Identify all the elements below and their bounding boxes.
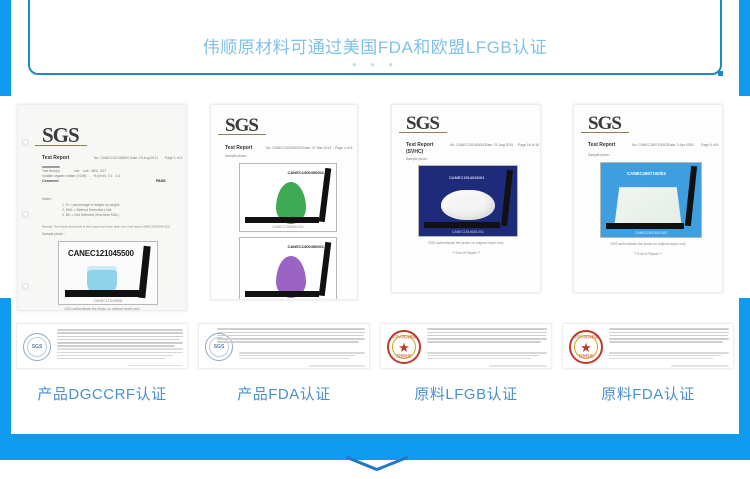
certificate-label: 产品DGCCRF认证 [37, 383, 166, 404]
certificate-label: 原料LFGB认证 [414, 383, 517, 404]
report-title: Test Report [588, 142, 615, 148]
ruler [245, 217, 319, 223]
sgs-logo: SGS [406, 113, 439, 135]
stamp-seal-icon: 中华人民共和国 ★ 检验检疫 [569, 330, 603, 364]
report-date: Date: 07 Mar 2013 [303, 146, 331, 151]
result-value: PASS [156, 179, 166, 183]
table-divider [42, 166, 60, 168]
photo-code: CANEC1300450001 [288, 244, 324, 249]
photo-code: CANEC1807100/03 [627, 171, 666, 176]
stamp-seal-icon: 中华人民共和国 ★ 检验检疫 [387, 330, 421, 364]
photo-label: Sample photo : [225, 154, 248, 159]
edge-accent-bottom-right [739, 298, 750, 434]
note-item: 3. ND = Not Detected (less than MDL) [62, 213, 119, 218]
sample-remark: Remark: The results & photo(s) of this r… [42, 225, 170, 229]
report-date: Date: 23 Aug 2012 [130, 156, 158, 161]
sgs-logo: SGS [225, 115, 258, 137]
report-number: No. CANEC1514630/01 [450, 143, 486, 148]
text-block [57, 329, 183, 351]
sample-object [441, 190, 495, 220]
report-title: Test Report [225, 145, 252, 151]
report-date: Date: 21 Aug 2015 [485, 143, 513, 148]
sgs-logo: SGS [588, 113, 621, 135]
report-page: Page 1 of 3 [165, 156, 182, 161]
text-block [609, 328, 729, 344]
star-icon: ★ [580, 341, 592, 354]
certificate-image: SGS Test Report (SVHC) No. CANEC1514630/… [391, 104, 541, 293]
photo-label: Sample photo : [42, 232, 65, 237]
photo-code: CANEC1514630/01 [449, 175, 484, 180]
report-page: Page 6 of 8 [701, 143, 718, 148]
seal-bottom-text: 检验检疫 [389, 354, 419, 359]
sample-object [614, 187, 681, 226]
ruler [245, 291, 319, 297]
star-icon: ★ [398, 341, 410, 354]
contact-block [609, 352, 729, 360]
certificate-gallery: SGS Test Report No. CANEC121045500 Date:… [11, 104, 739, 404]
report-number: No. CANEC1300450001 [266, 146, 303, 151]
ruler [65, 290, 143, 297]
contact-block [57, 352, 183, 360]
report-number: No. CANEC121045500 [94, 156, 129, 161]
certificate-image-secondary: SGS [198, 323, 370, 369]
notes-label: Notes : [42, 197, 53, 202]
photo-caption: CANEC1807100-003 [601, 231, 701, 236]
authenticate-note: SGS authenticate the photo on original r… [18, 307, 186, 311]
punch-hole [22, 283, 29, 290]
sample-photo: CANEC1300450001 CANEC1300450-001 [239, 163, 337, 232]
report-page: Page 16 of 16 [518, 143, 539, 148]
footer-bar [0, 434, 750, 460]
ruler [424, 222, 500, 228]
seal-bottom-text: 检验检疫 [571, 354, 601, 359]
text-block [217, 328, 365, 344]
photo-caption: CANEC1300450-002 [240, 299, 336, 300]
edge-accent-bottom-left [0, 298, 11, 434]
sample-photo: CANEC1807100/03 CANEC1807100-003 [600, 162, 702, 238]
ruler [606, 223, 684, 229]
certificate-image-secondary: 中华人民共和国 ★ 检验检疫 [380, 323, 552, 369]
seal-text: SGS [32, 344, 43, 350]
text-block [427, 328, 547, 344]
sgs-logo: SGS [42, 123, 79, 148]
authenticate-note: SGS authenticate the photo on original r… [392, 241, 540, 246]
report-number: No. CANEC1807100/03 [632, 143, 668, 148]
contact-block [427, 352, 547, 360]
certificate-label: 原料FDA认证 [601, 383, 695, 404]
report-page: Page 4 of 5 [335, 146, 352, 151]
certificate-image: SGS Test Report No. CANEC1300450001 Date… [210, 104, 358, 300]
ruler [501, 170, 513, 226]
photo-code: CANEC1300450001 [288, 170, 324, 175]
certificate-image-secondary: 中华人民共和国 ★ 检验检疫 [562, 323, 734, 369]
authenticate-note: SGS authenticate the photo on original r… [574, 242, 722, 247]
page-root: 检测报告 伟顺原材料可通过美国FDA和欧盟LFGB认证 • • • SGS Te… [0, 0, 750, 479]
certificate-image: SGS Test Report No. CANEC121045500 Date:… [17, 104, 187, 311]
seal-text: SGS [214, 344, 225, 350]
photo-caption: CANEC1300450-001 [240, 225, 336, 230]
sample-photo: CANEC1300450001 CANEC1300450-002 [239, 237, 337, 300]
end-of-report: ** End of Report ** [574, 252, 722, 257]
photo-label: Sample photo : [588, 153, 611, 158]
stamp-seal-icon: SGS [23, 333, 51, 361]
report-date: Date: 2 Apr 2018 [668, 143, 693, 148]
ruler [685, 166, 697, 226]
table-row: Comment [42, 179, 59, 183]
report-title: Test Report [406, 142, 433, 148]
photo-caption: CANEC121045500 [59, 299, 157, 304]
ruler [319, 168, 332, 222]
photo-caption: CANEC1514630-001 [419, 230, 517, 235]
photo-code: CANEC121045500 [68, 249, 134, 258]
photo-label: Sample photo : [406, 157, 429, 162]
sample-photo: CANEC1514630/01 CANEC1514630-001 [418, 165, 518, 237]
report-title: Test Report [42, 155, 69, 161]
certificate-card[interactable]: SGS Test Report (SVHC) No. CANEC1514630/… [375, 104, 557, 404]
header-dots-ornament: • • • [0, 57, 750, 72]
punch-hole [22, 211, 29, 218]
certificate-card[interactable]: SGS Test Report No. CANEC121045500 Date:… [11, 104, 193, 404]
certificate-card[interactable]: SGS Test Report No. CANEC1300450001 Date… [193, 104, 375, 404]
contact-block [239, 352, 365, 360]
certificate-image: SGS Test Report No. CANEC1807100/03 Date… [573, 104, 723, 293]
sample-photo: CANEC121045500 CANEC121045500 [58, 241, 158, 305]
punch-hole [22, 139, 29, 146]
certificate-image-secondary: SGS [16, 323, 188, 369]
header-subtitle: 伟顺原材料可通过美国FDA和欧盟LFGB认证 [0, 33, 750, 58]
certificate-card[interactable]: SGS Test Report No. CANEC1807100/03 Date… [557, 104, 739, 404]
ruler [319, 242, 332, 296]
report-subtitle: (SVHC) [406, 149, 423, 155]
certificate-label: 产品FDA认证 [237, 383, 331, 404]
end-of-report: ** End of Report ** [392, 251, 540, 256]
